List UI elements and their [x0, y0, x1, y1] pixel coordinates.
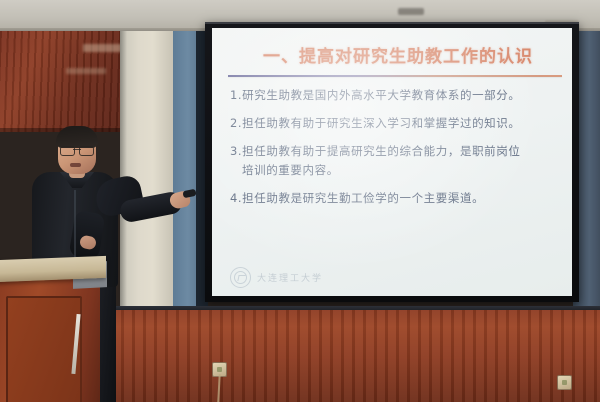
- bullet-text: 3.担任助教有助于提高研究生的综合能力，是职前岗位: [230, 144, 520, 158]
- slide-bullet-list: 1.研究生助教是国内外高水平大学教育体系的一部分。 2.担任助教有助于研究生深入…: [230, 86, 560, 217]
- podium-front-panel: [6, 296, 82, 402]
- list-item: 1.研究生助教是国内外高水平大学教育体系的一部分。: [230, 86, 560, 105]
- bullet-text: 4.担任助教是研究生勤工俭学的一个主要渠道。: [230, 191, 484, 205]
- beige-column: [120, 31, 173, 312]
- lecture-hall-photo: 一、提高对研究生助教工作的认识 1.研究生助教是国内外高水平大学教育体系的一部分…: [0, 0, 600, 402]
- beige-column-shadow: [120, 31, 127, 312]
- glasses-bridge: [73, 149, 81, 150]
- speaker-hair: [56, 126, 98, 148]
- wall-outlet-right: [557, 375, 572, 390]
- slide-title-underline: [228, 75, 562, 77]
- slide-title: 一、提高对研究生助教工作的认识: [240, 42, 556, 67]
- bullet-continuation: 培训的重要内容。: [230, 161, 560, 180]
- university-seal-icon: [230, 267, 251, 288]
- speaker-mouth: [70, 163, 81, 167]
- list-item: 4.担任助教是研究生勤工俭学的一个主要渠道。: [230, 189, 560, 208]
- bullet-text: 1.研究生助教是国内外高水平大学教育体系的一部分。: [230, 88, 520, 102]
- slide-footer-label: 大连理工大学: [257, 271, 323, 284]
- bullet-text: 2.担任助教有助于研究生深入学习和掌握学过的知识。: [230, 116, 520, 130]
- wall-plaque-lower: [66, 68, 106, 74]
- ceiling-mark: [398, 8, 424, 15]
- podium-top-surface: [0, 256, 106, 282]
- slide-footer: 大连理工大学: [230, 267, 323, 288]
- list-item: 2.担任助教有助于研究生深入学习和掌握学过的知识。: [230, 114, 560, 133]
- list-item: 3.担任助教有助于提高研究生的综合能力，是职前岗位 培训的重要内容。: [230, 142, 560, 180]
- projected-slide: 一、提高对研究生助教工作的认识 1.研究生助教是国内外高水平大学教育体系的一部分…: [212, 28, 572, 296]
